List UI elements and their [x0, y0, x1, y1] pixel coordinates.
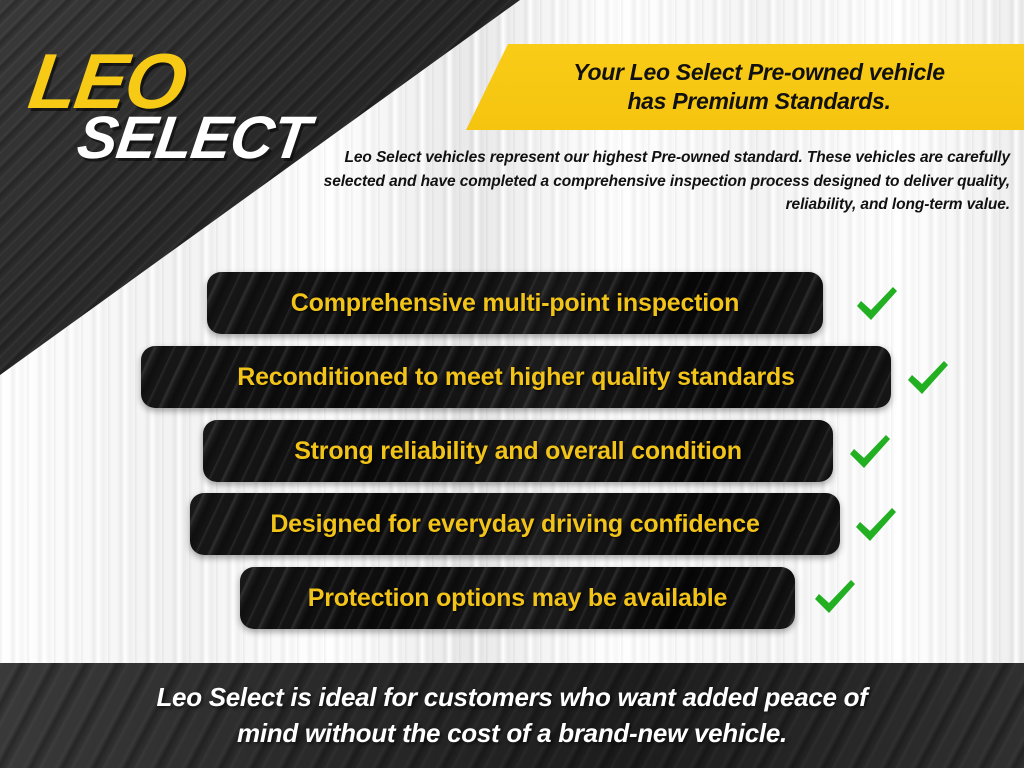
benefit-pill-5: Protection options may be available	[240, 567, 795, 629]
check-icon	[903, 355, 951, 403]
benefit-label-1: Comprehensive multi-point inspection	[291, 289, 739, 318]
logo-text-select: SELECT	[74, 108, 313, 168]
check-icon	[852, 281, 900, 329]
brand-logo: LEO SELECT	[30, 42, 330, 172]
footer-banner: Leo Select is ideal for customers who wa…	[0, 663, 1024, 768]
check-icon	[810, 574, 858, 622]
headline-line-2: has Premium Standards.	[573, 87, 944, 116]
headline-banner: Your Leo Select Pre-owned vehicle has Pr…	[466, 44, 1024, 130]
benefit-pill-2: Reconditioned to meet higher quality sta…	[141, 346, 891, 408]
benefit-label-3: Strong reliability and overall condition	[294, 437, 742, 466]
footer-text: Leo Select is ideal for customers who wa…	[96, 680, 927, 752]
benefit-pill-1: Comprehensive multi-point inspection	[207, 272, 823, 334]
intro-paragraph: Leo Select vehicles represent our highes…	[310, 146, 1010, 217]
headline-line-1: Your Leo Select Pre-owned vehicle	[573, 59, 944, 85]
check-icon	[851, 502, 899, 550]
benefit-label-5: Protection options may be available	[308, 584, 728, 613]
footer-line-2: mind without the cost of a brand-new veh…	[237, 718, 787, 748]
leo-select-poster: LEO SELECT Your Leo Select Pre-owned veh…	[0, 0, 1024, 768]
benefit-pill-3: Strong reliability and overall condition	[203, 420, 833, 482]
footer-line-1: Leo Select is ideal for customers who wa…	[156, 682, 867, 712]
check-icon	[845, 429, 893, 477]
benefit-label-2: Reconditioned to meet higher quality sta…	[237, 363, 795, 392]
benefit-pill-4: Designed for everyday driving confidence	[190, 493, 840, 555]
headline-text: Your Leo Select Pre-owned vehicle has Pr…	[527, 58, 962, 117]
benefit-label-4: Designed for everyday driving confidence	[270, 510, 759, 539]
